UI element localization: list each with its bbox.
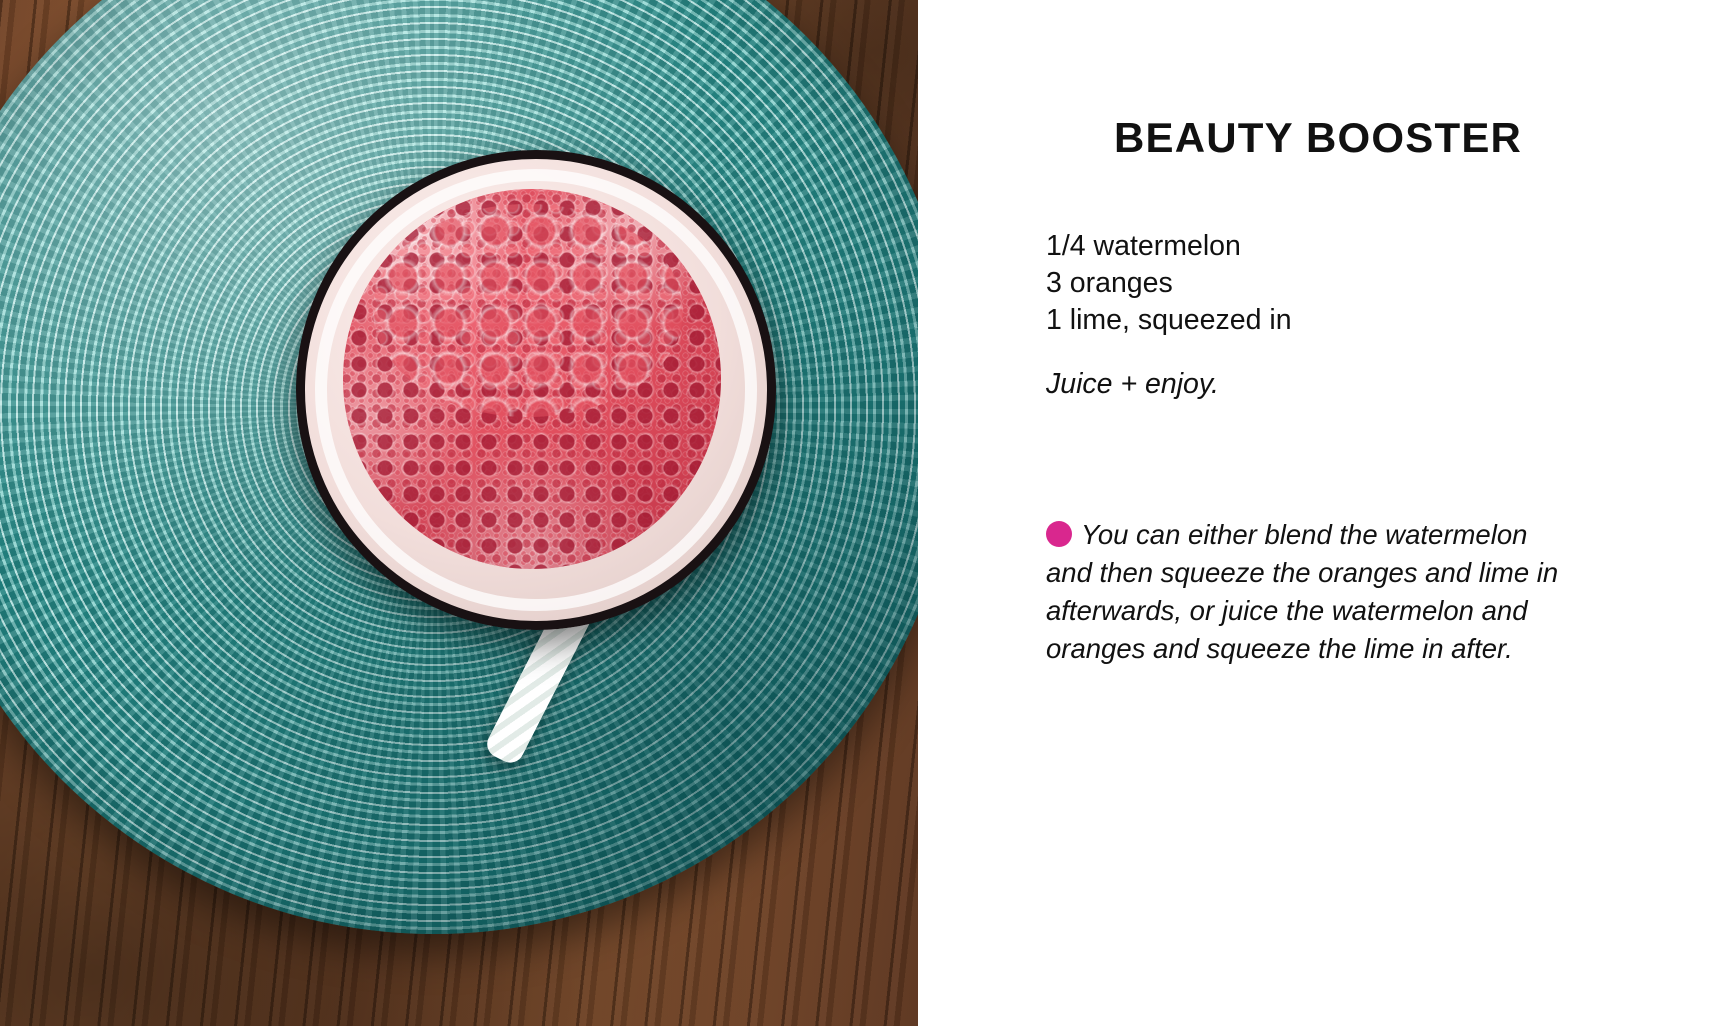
recipe-title: BEAUTY BOOSTER xyxy=(1114,114,1522,162)
ingredient-item: 1 lime, squeezed in xyxy=(1046,302,1292,339)
recipe-photo xyxy=(0,0,918,1026)
tip-text: You can either blend the watermelon and … xyxy=(1046,519,1558,664)
recipe-text-panel: BEAUTY BOOSTER 1/4 watermelon 3 oranges … xyxy=(918,0,1732,1026)
ingredient-item: 3 oranges xyxy=(1046,265,1292,302)
drinking-glass xyxy=(296,150,776,630)
ingredient-list: 1/4 watermelon 3 oranges 1 lime, squeeze… xyxy=(1046,228,1292,339)
juice-large-bubbles xyxy=(373,204,683,417)
instruction-text: Juice + enjoy. xyxy=(1046,368,1219,401)
pink-dot-icon xyxy=(1046,521,1072,547)
tip-note: You can either blend the watermelon and … xyxy=(1046,516,1566,668)
recipe-page: BEAUTY BOOSTER 1/4 watermelon 3 oranges … xyxy=(0,0,1732,1026)
watermelon-juice xyxy=(343,189,721,569)
ingredient-item: 1/4 watermelon xyxy=(1046,228,1292,265)
